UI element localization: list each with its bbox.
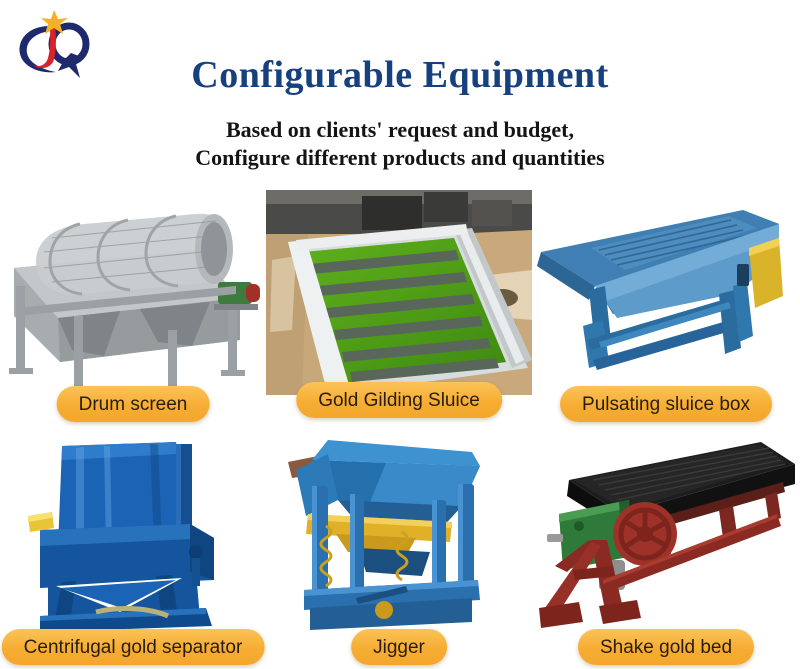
product-grid: Drum screen [0, 190, 800, 669]
subtitle-line-2: Configure different products and quantit… [0, 144, 800, 172]
product-label-pill[interactable]: Drum screen [57, 386, 210, 422]
product-label-text: Shake gold bed [600, 638, 732, 657]
subtitle-line-1: Based on clients' request and budget, [0, 116, 800, 144]
product-card-shake-gold-bed[interactable]: Shake gold bed [533, 430, 799, 668]
product-card-jigger[interactable]: Jigger [266, 430, 532, 668]
product-label-text: Jigger [373, 638, 425, 657]
product-label-text: Drum screen [79, 395, 188, 414]
poster-canvas: Configurable Equipment Based on clients'… [0, 0, 800, 669]
pulsating-sluice-box-photo [533, 190, 799, 395]
product-label-pill[interactable]: Shake gold bed [578, 629, 754, 665]
page-title: Configurable Equipment [0, 56, 800, 96]
drum-screen-photo [0, 190, 266, 395]
product-card-pulsating-sluice-box[interactable]: Pulsating sluice box [533, 190, 799, 428]
product-label-text: Centrifugal gold separator [24, 638, 243, 657]
product-label-text: Gold Gilding Sluice [318, 391, 480, 410]
product-label-pill[interactable]: Pulsating sluice box [560, 386, 772, 422]
page-subtitle: Based on clients' request and budget, Co… [0, 116, 800, 171]
gold-gilding-sluice-photo [266, 190, 532, 395]
product-card-drum-screen[interactable]: Drum screen [0, 190, 266, 428]
centrifugal-gold-separator-photo [0, 430, 266, 635]
product-card-centrifugal-gold-separator[interactable]: Centrifugal gold separator [0, 430, 266, 668]
product-label-text: Pulsating sluice box [582, 395, 750, 414]
product-card-gold-gilding-sluice[interactable]: Gold Gilding Sluice [266, 190, 532, 428]
jigger-photo [266, 430, 532, 635]
product-label-pill[interactable]: Gold Gilding Sluice [296, 382, 502, 418]
product-label-pill[interactable]: Jigger [351, 629, 447, 665]
shake-gold-bed-photo [533, 430, 799, 635]
product-label-pill[interactable]: Centrifugal gold separator [2, 629, 265, 665]
